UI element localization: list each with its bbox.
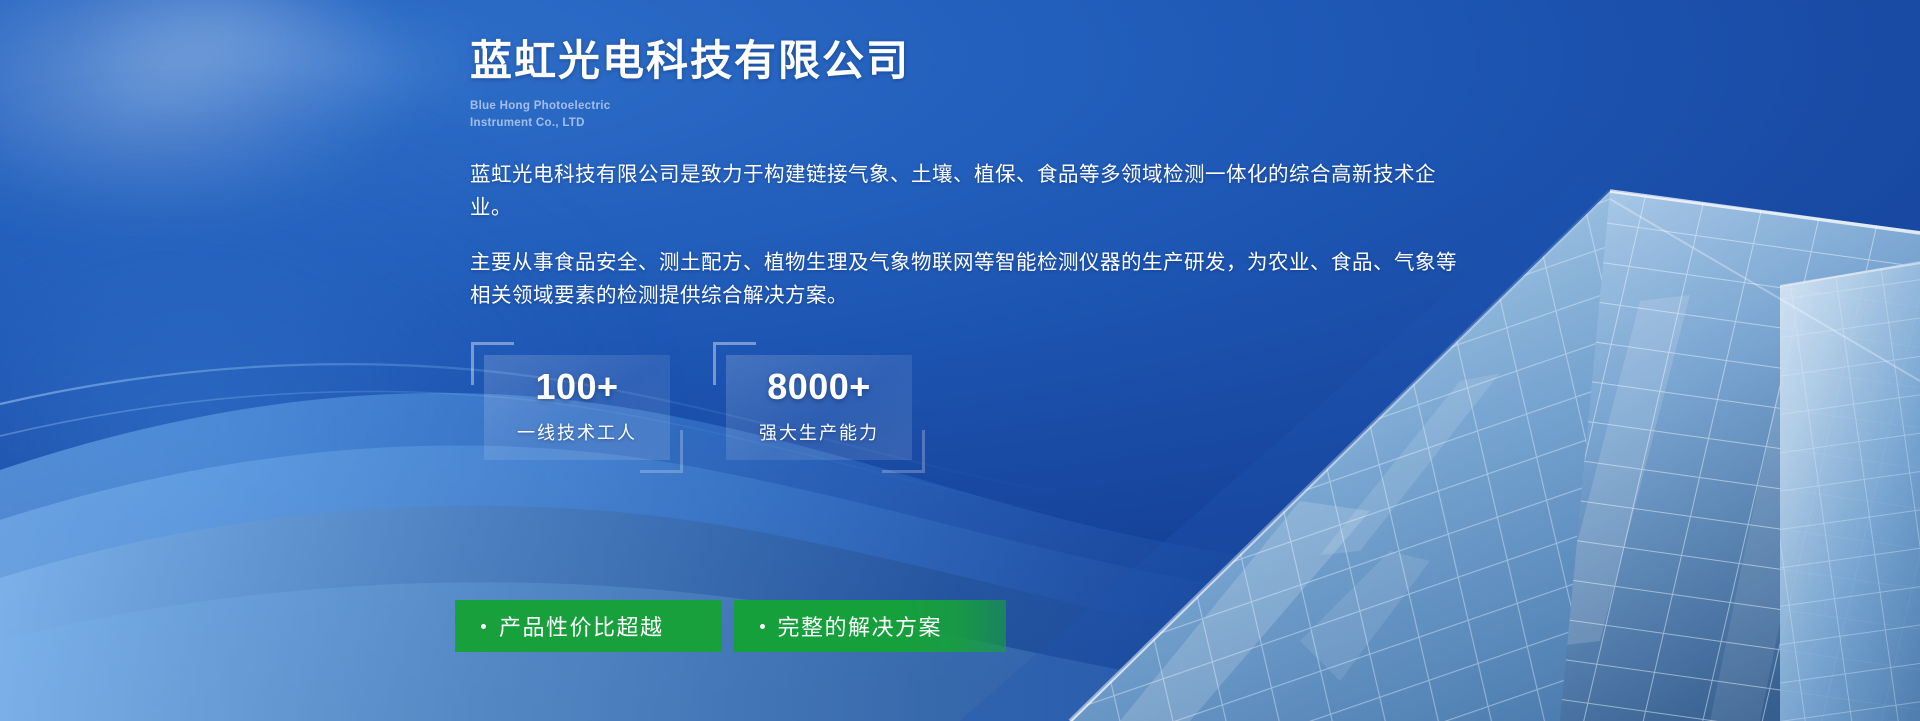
feature-tag-label: 产品性价比超越 bbox=[499, 610, 664, 642]
company-name-cn: 蓝虹光电科技有限公司 bbox=[470, 36, 1490, 86]
company-name-en-line2: Instrument Co., LTD bbox=[470, 115, 1490, 132]
stat-value: 100+ bbox=[535, 369, 618, 405]
stat-card-capacity: 8000+ 强大生产能力 bbox=[726, 355, 912, 460]
feature-tag-price: 产品性价比超越 bbox=[455, 600, 722, 652]
bullet-dot-icon bbox=[481, 624, 486, 629]
stat-value: 8000+ bbox=[767, 369, 871, 405]
stat-label: 强大生产能力 bbox=[759, 419, 879, 445]
intro-paragraph-1: 蓝虹光电科技有限公司是致力于构建链接气象、土壤、植保、食品等多领域检测一体化的综… bbox=[470, 158, 1460, 224]
stat-card-technicians: 100+ 一线技术工人 bbox=[484, 355, 670, 460]
stats-group: 100+ 一线技术工人 8000+ 强大生产能力 bbox=[484, 355, 1490, 460]
feature-tag-solution: 完整的解决方案 bbox=[734, 600, 1007, 652]
feature-tags: 产品性价比超越 完整的解决方案 bbox=[455, 600, 1006, 652]
cloud-decoration bbox=[80, 0, 380, 110]
cloud-decoration bbox=[0, 0, 410, 230]
company-name-en: Blue Hong Photoelectric Instrument Co., … bbox=[470, 98, 1490, 131]
intro-paragraph-2: 主要从事食品安全、测土配方、植物生理及气象物联网等智能检测仪器的生产研发，为农业… bbox=[470, 246, 1460, 312]
company-name-en-line1: Blue Hong Photoelectric bbox=[470, 98, 1490, 115]
stat-label: 一线技术工人 bbox=[517, 419, 637, 445]
hero-banner: 蓝虹光电科技有限公司 Blue Hong Photoelectric Instr… bbox=[0, 0, 1920, 721]
hero-content: 蓝虹光电科技有限公司 Blue Hong Photoelectric Instr… bbox=[470, 36, 1490, 460]
bullet-dot-icon bbox=[760, 624, 765, 629]
cloud-decoration bbox=[250, 10, 490, 120]
feature-tag-label: 完整的解决方案 bbox=[778, 610, 943, 642]
